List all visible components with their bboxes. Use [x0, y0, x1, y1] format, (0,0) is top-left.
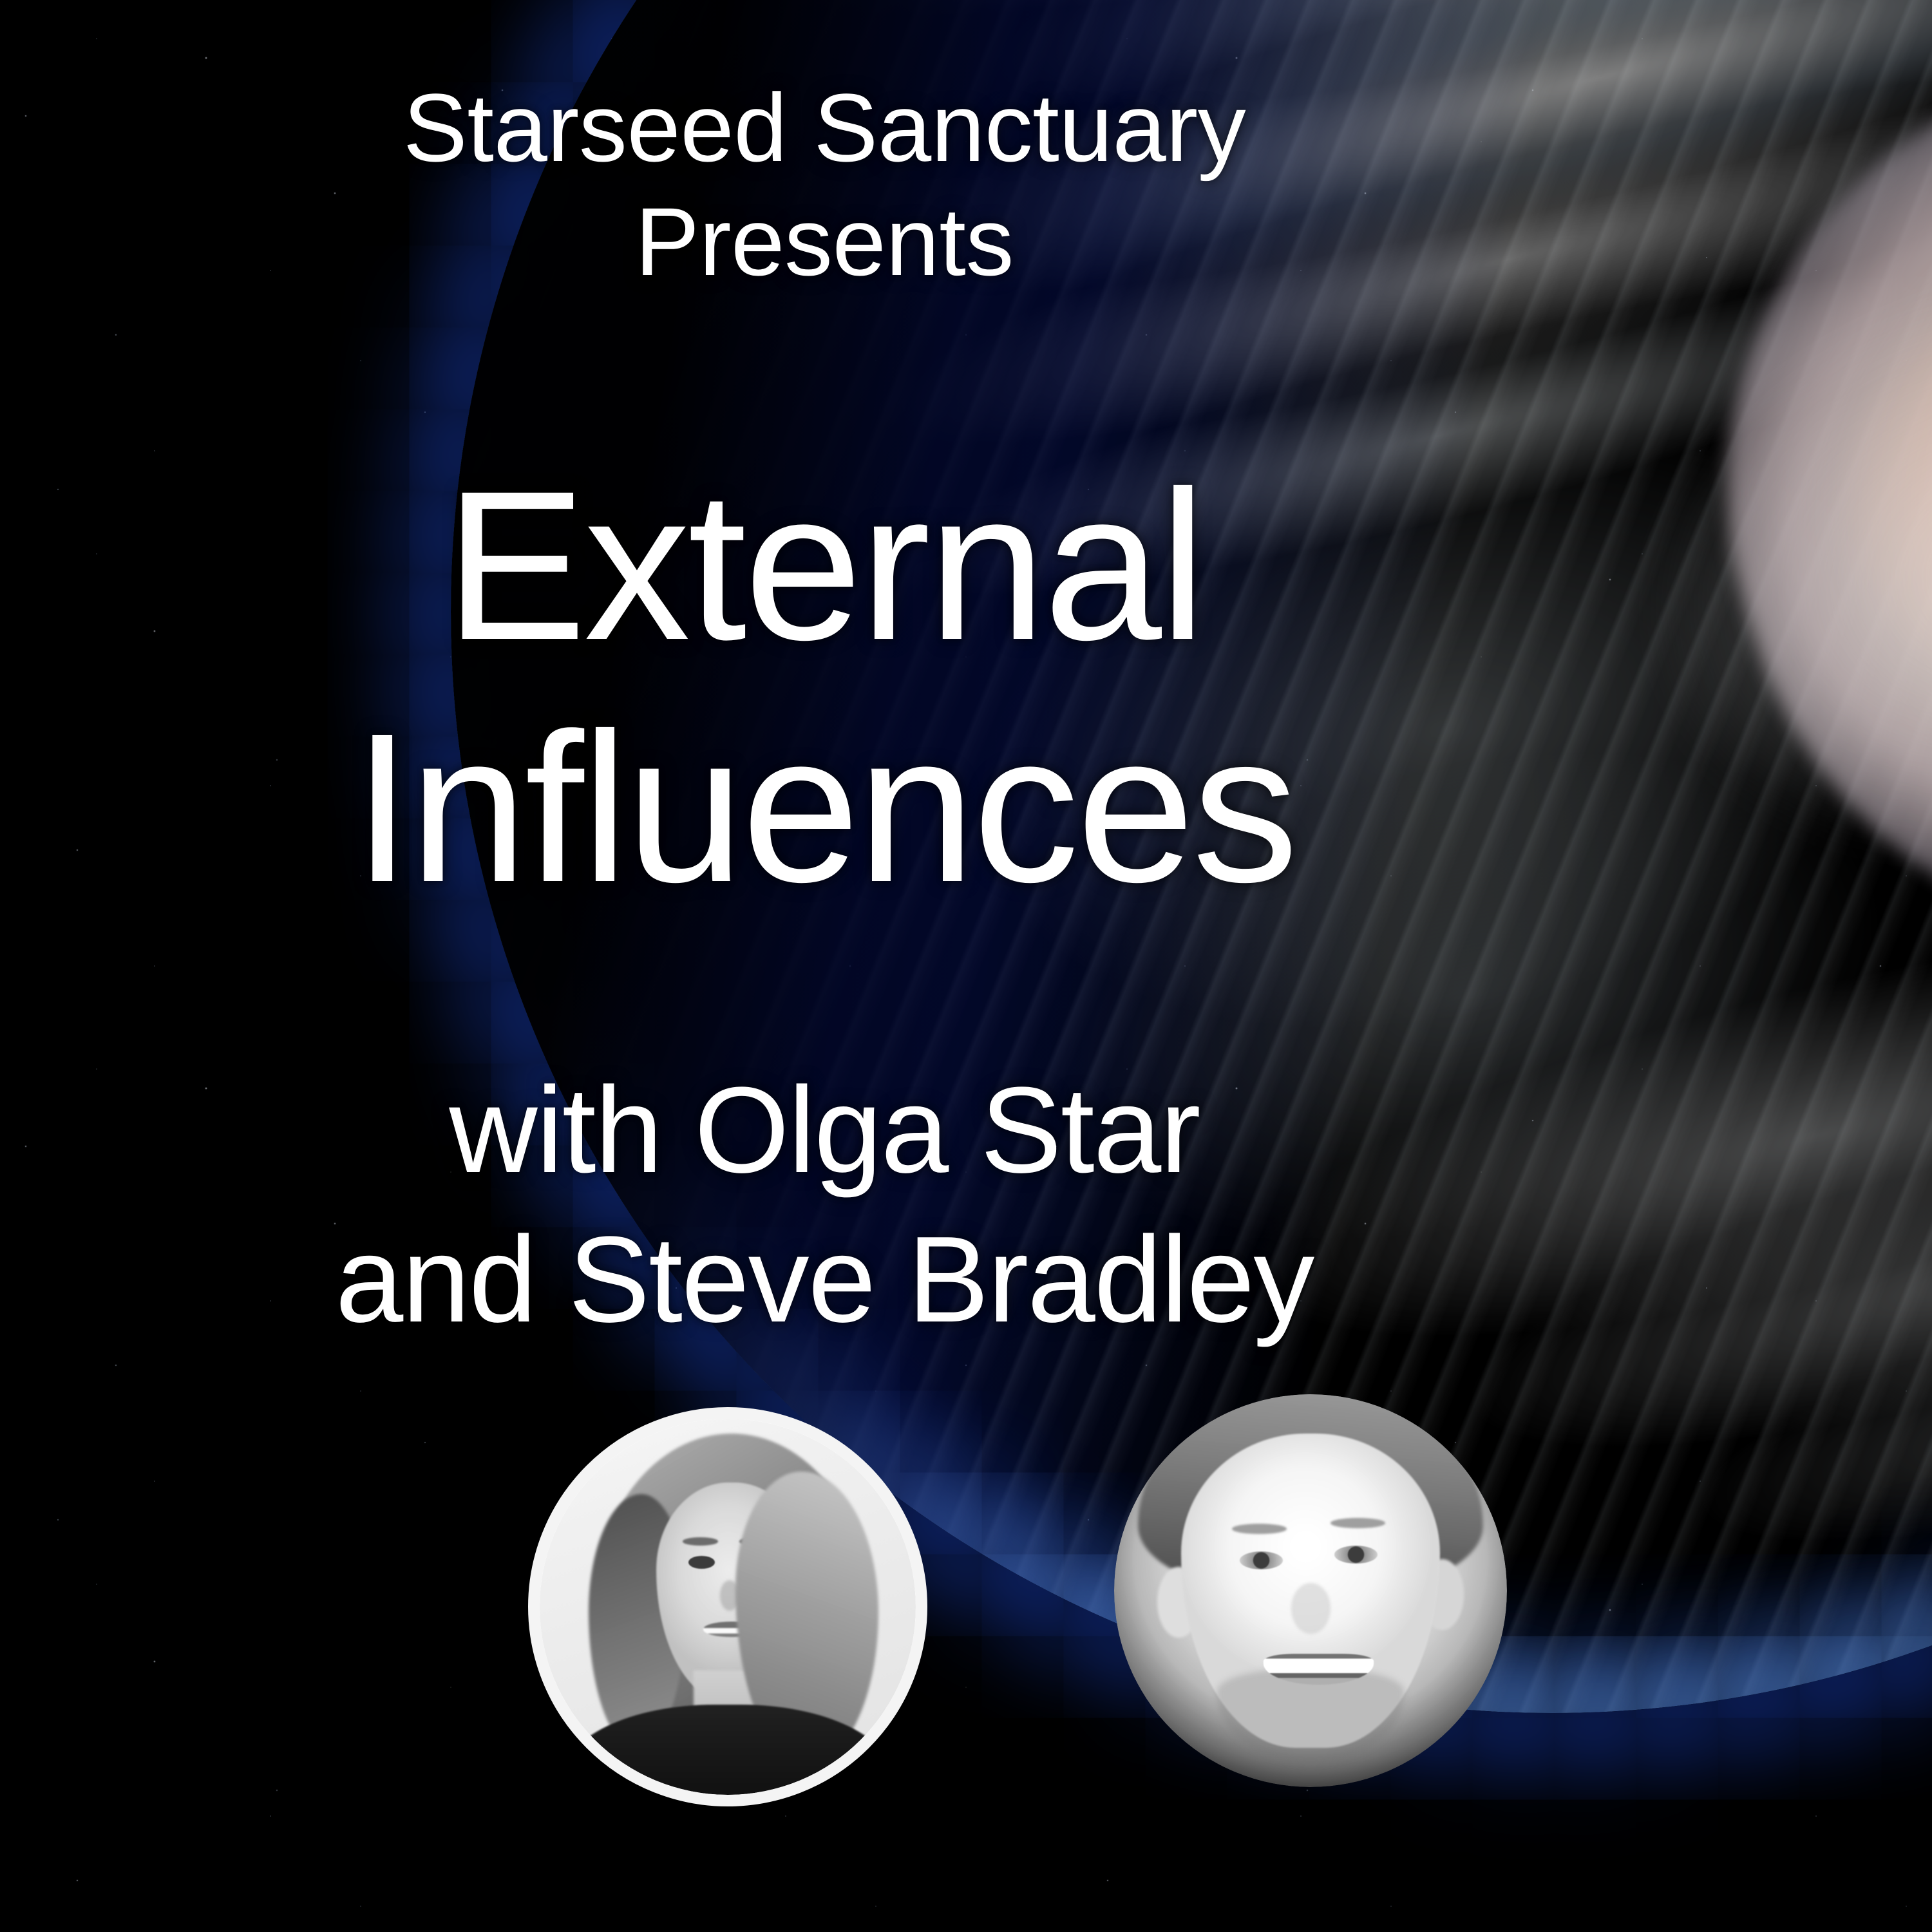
eye-left	[1240, 1551, 1283, 1569]
eyebrow-right	[1331, 1518, 1385, 1528]
avatar-steve	[1114, 1394, 1507, 1787]
podcast-cover-art: Starseed Sanctuary Presents External Inf…	[0, 0, 1932, 1932]
nose	[1291, 1583, 1331, 1634]
episode-title: External Influences	[0, 444, 1649, 929]
presenter-label: Starseed Sanctuary Presents	[0, 71, 1649, 299]
avatar-olga	[528, 1407, 927, 1806]
hosts-subtitle: with Olga Star and Steve Bradley	[0, 1056, 1649, 1355]
portrait-steve-bradley	[1114, 1394, 1507, 1787]
eye-left	[688, 1556, 715, 1569]
eyebrow-left	[683, 1537, 718, 1546]
portrait-olga-star	[540, 1419, 916, 1795]
eye-right	[1334, 1546, 1378, 1564]
